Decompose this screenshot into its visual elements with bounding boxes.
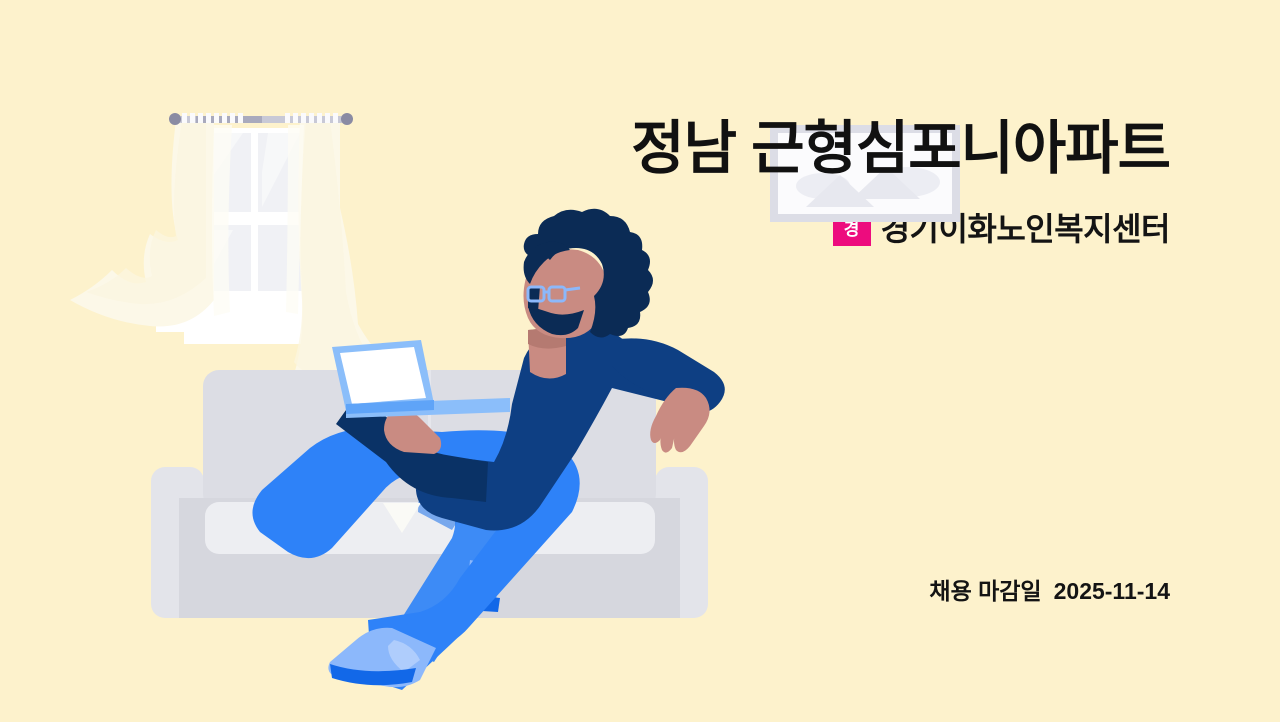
job-posting-card: 정남 근형심포니아파트 경 경기이화노인복지센터 채용 마감일2025-11-1…	[0, 0, 1280, 722]
deadline-row: 채용 마감일2025-11-14	[929, 572, 1170, 606]
posting-text-block: 정남 근형심포니아파트 경 경기이화노인복지센터	[410, 120, 1170, 250]
job-title: 정남 근형심포니아파트	[410, 120, 1170, 178]
deadline-label: 채용 마감일	[929, 578, 1041, 604]
deadline-date: 2025-11-14	[1054, 578, 1170, 604]
title-wrapper: 정남 근형심포니아파트	[410, 120, 1170, 178]
illustration-person-on-sofa	[0, 0, 760, 722]
